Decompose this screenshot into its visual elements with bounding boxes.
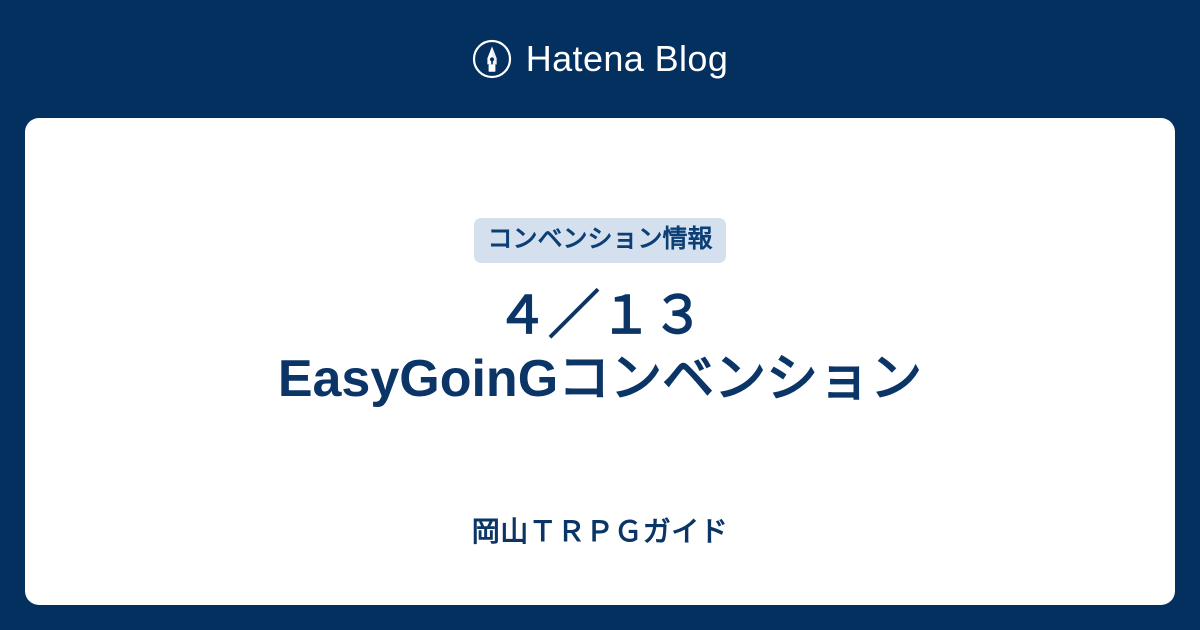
hatena-pen-nib-icon (472, 39, 512, 79)
entry-title-line-1: ４／１３ (278, 285, 922, 348)
category-badge[interactable]: コンベンション情報 (474, 218, 725, 263)
blog-name[interactable]: 岡山ＴＲＰＧガイド (25, 518, 1175, 546)
entry-title-line-2: EasyGoinGコンベンション (278, 348, 922, 411)
brand-name: Hatena Blog (526, 41, 729, 77)
entry-title: ４／１３ EasyGoinGコンベンション (258, 285, 942, 412)
entry-card: コンベンション情報 ４／１３ EasyGoinGコンベンション 岡山ＴＲＰＧガイ… (25, 118, 1175, 605)
og-image-canvas: Hatena Blog コンベンション情報 ４／１３ EasyGoinGコンベン… (0, 0, 1200, 630)
brand-bar: Hatena Blog (0, 0, 1200, 118)
